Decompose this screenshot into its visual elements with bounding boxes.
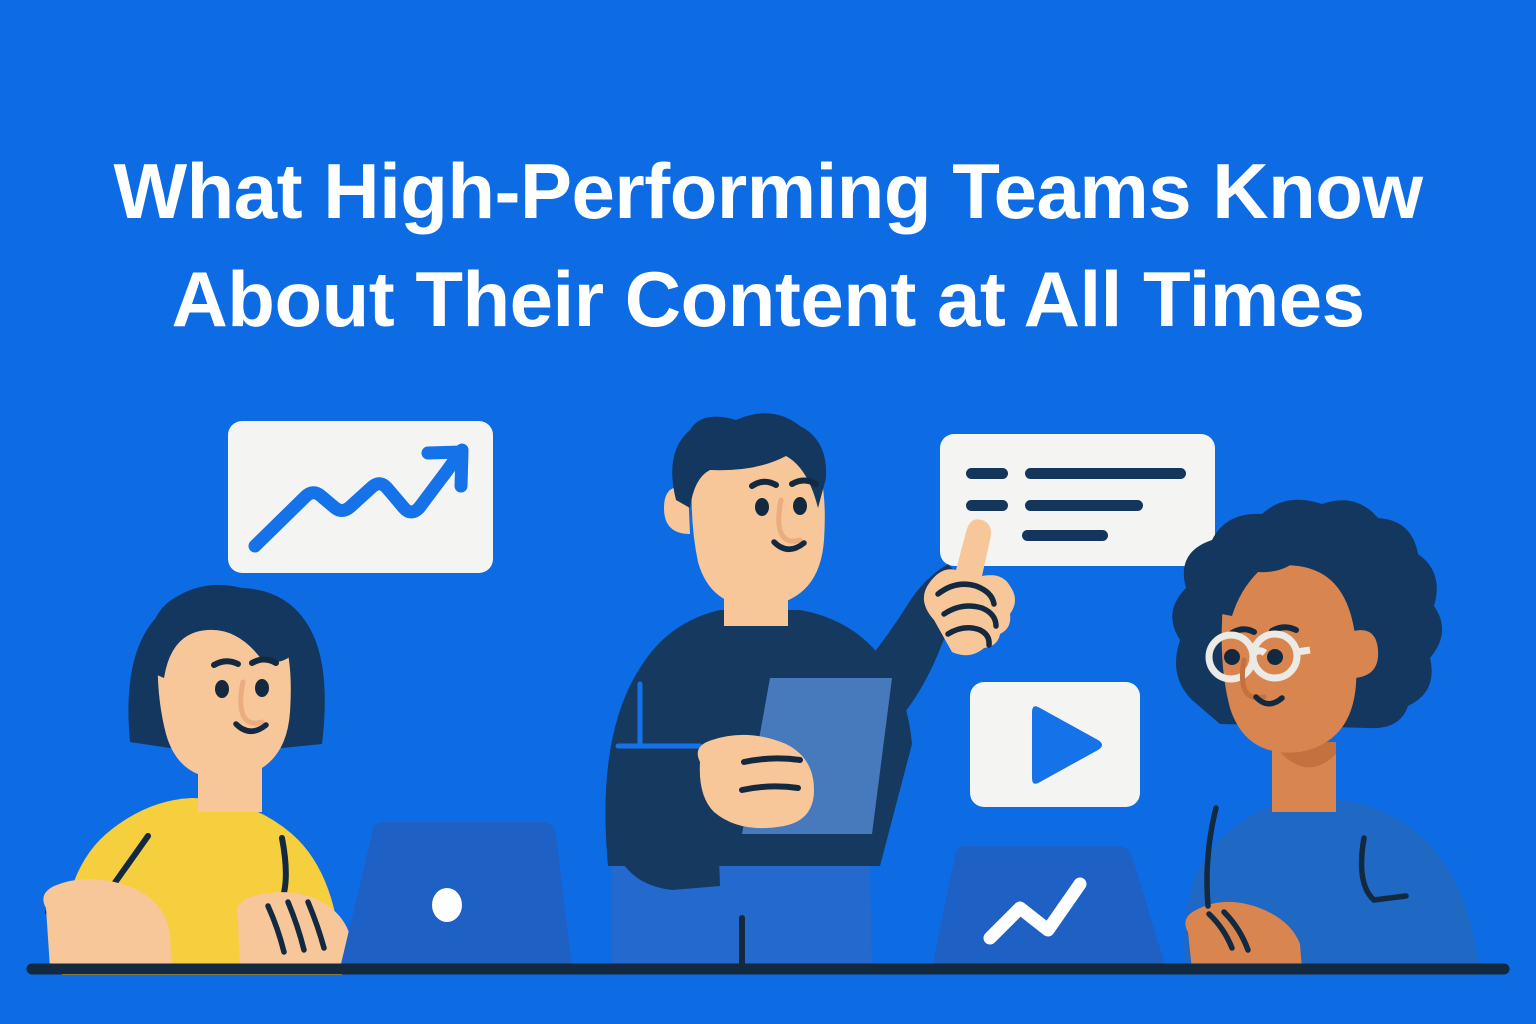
laptop-left	[340, 822, 572, 968]
doc-bullet-2	[966, 500, 1008, 511]
doc-line-3	[1022, 530, 1108, 541]
laptop-lid-dot-logo	[432, 888, 462, 922]
team-illustration	[0, 0, 1536, 1024]
person-left-hand-right	[237, 892, 352, 970]
doc-line-1	[1025, 468, 1186, 479]
laptop-right	[932, 846, 1166, 968]
doc-bullet-1	[966, 468, 1008, 479]
growth-chart-card	[228, 421, 493, 573]
hero-banner: What High-Performing Teams Know About Th…	[0, 0, 1536, 1024]
person-left-typing	[43, 585, 352, 975]
video-play-card	[970, 682, 1140, 807]
person-right-listening	[1172, 500, 1480, 975]
doc-line-2	[1025, 500, 1143, 511]
